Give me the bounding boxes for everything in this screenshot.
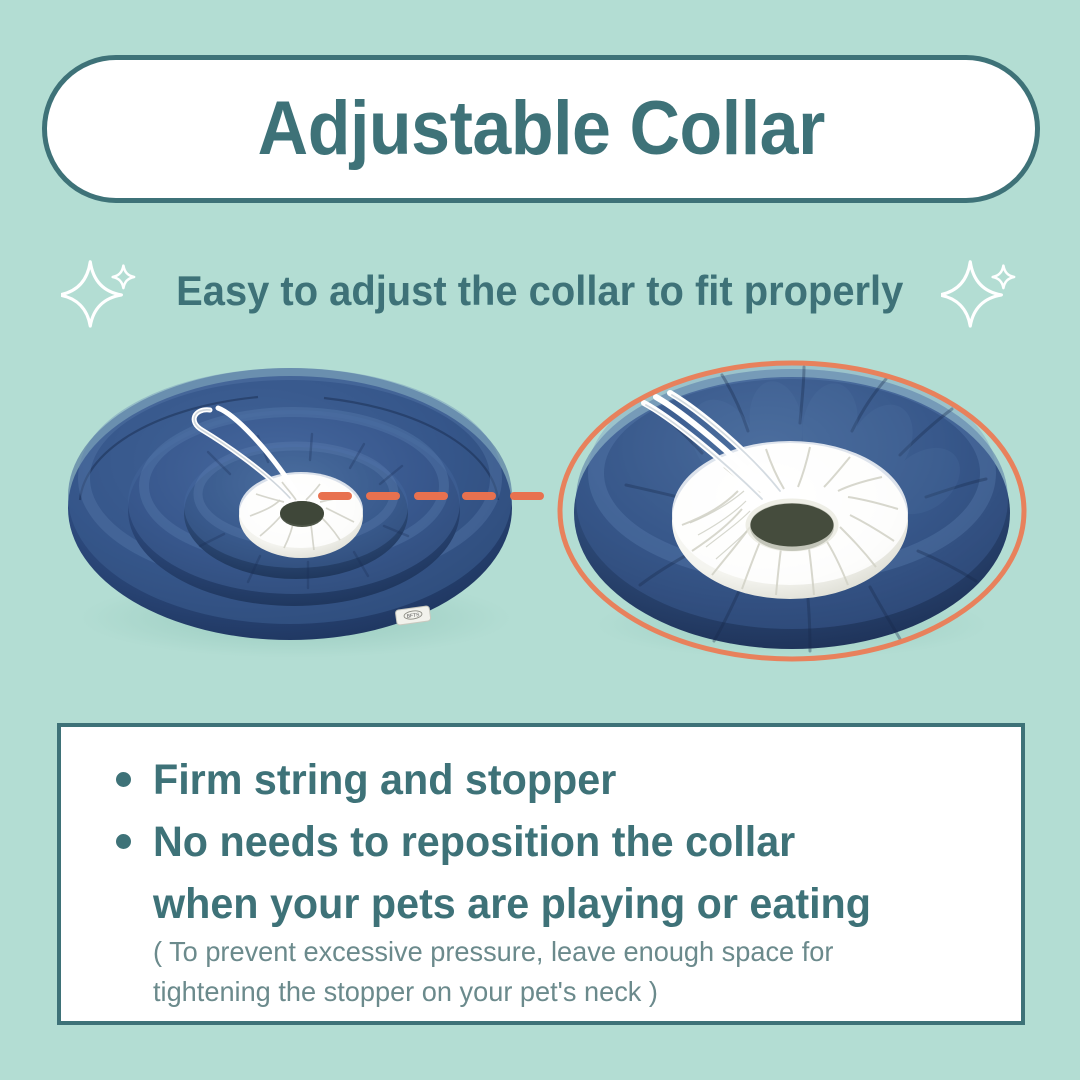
list-item: Firm string and stopper xyxy=(116,750,636,811)
note-line: tightening the stopper on your pet's nec… xyxy=(153,972,958,1012)
note-line: ( To prevent excessive pressure, leave e… xyxy=(153,932,958,972)
infographic-stage: Adjustable Collar Easy to adjust the col… xyxy=(0,0,1080,1080)
feature-note: ( To prevent excessive pressure, leave e… xyxy=(153,932,958,1012)
subtitle-row: Easy to adjust the collar to fit properl… xyxy=(0,248,1080,334)
feature-text: No needs to reposition the collar xyxy=(153,812,795,873)
title-banner: Adjustable Collar xyxy=(42,55,1040,203)
product-photo-collar-detail xyxy=(552,345,1032,665)
sparkle-icon xyxy=(61,252,139,330)
product-photo-row: BFTS xyxy=(0,340,1080,700)
feature-text-continuation: when your pets are playing or eating xyxy=(153,874,871,935)
features-box: Firm string and stopper No needs to repo… xyxy=(57,723,1025,1025)
bullet-dot-icon xyxy=(116,834,131,849)
product-photo-coiled-collar: BFTS xyxy=(58,350,528,670)
bullet-dot-icon xyxy=(116,772,131,787)
sparkle-icon xyxy=(941,252,1019,330)
feature-text: Firm string and stopper xyxy=(153,750,616,811)
page-title: Adjustable Collar xyxy=(257,91,824,167)
list-item: No needs to reposition the collar xyxy=(116,812,822,873)
connector-dashed-line xyxy=(318,492,558,500)
subtitle-text: Easy to adjust the collar to fit properl… xyxy=(176,270,903,312)
